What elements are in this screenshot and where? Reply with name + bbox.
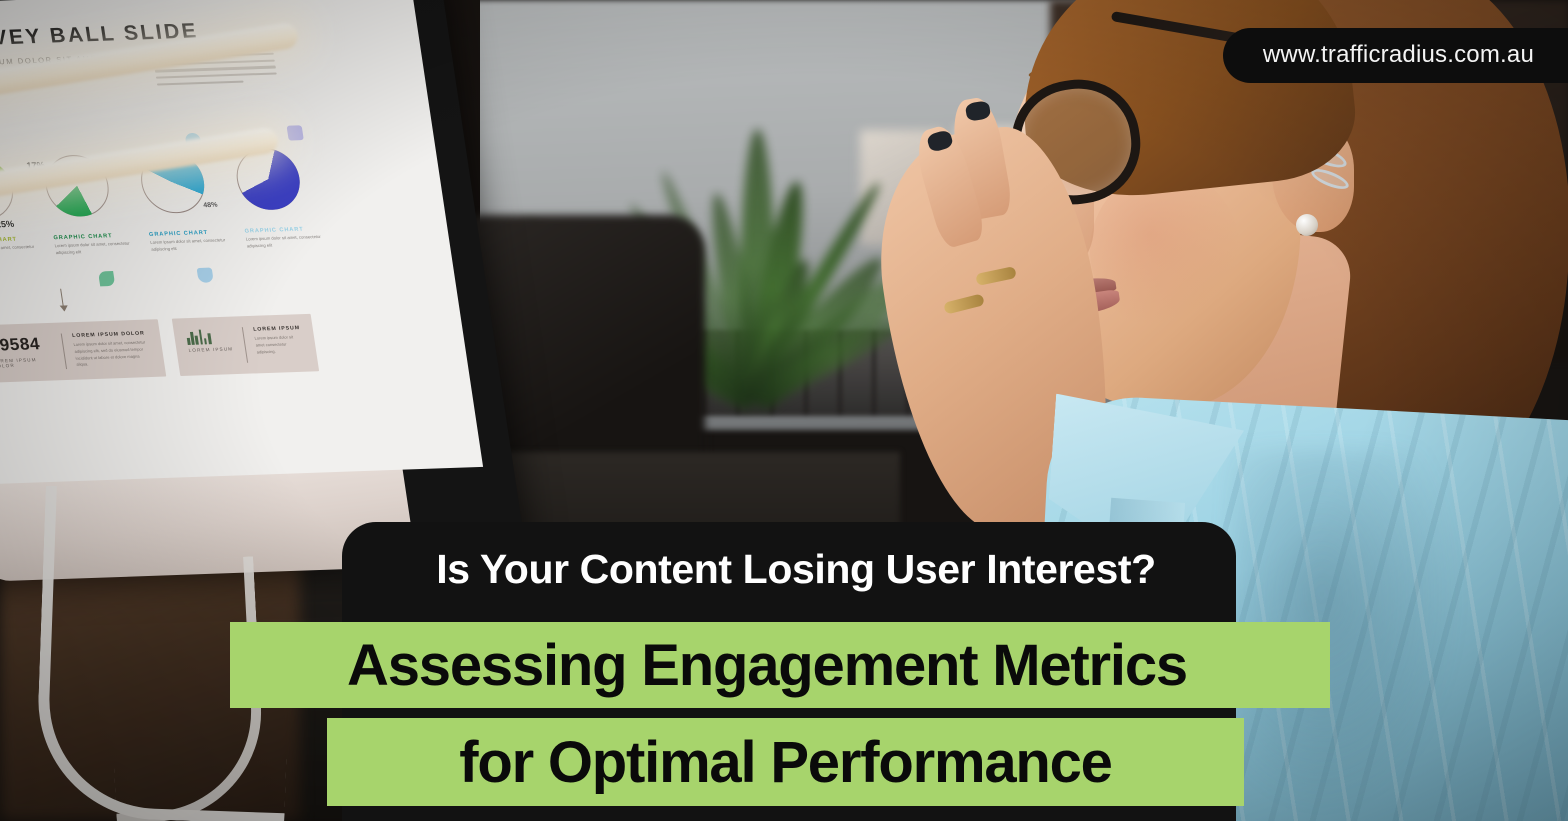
- stat-card-heading: LOREM IPSUM: [253, 325, 301, 333]
- tag-icon: [287, 125, 304, 140]
- headline-line-3: for Optimal Performance: [327, 718, 1244, 806]
- stat-card-body: Lorem ipsum dolor sit amet, consectetur …: [73, 339, 152, 369]
- card-divider: [61, 333, 67, 369]
- harvey-desc-1: Lorem ipsum dolor sit amet, consectetur …: [0, 244, 47, 260]
- pearl-earring: [1296, 214, 1318, 236]
- banner-canvas: HARVEY BALL SLIDE LOREM IPSUM DOLOR SIT …: [0, 0, 1568, 821]
- harvey-desc-2: Lorem ipsum dolor sit amet, consectetur …: [54, 240, 142, 256]
- stat-cards-row: 29584 LOREM IPSUM DOLOR LOREM IPSUM DOLO…: [0, 309, 454, 383]
- mini-bar-chart: [185, 328, 234, 345]
- stat-card-body: Lorem ipsum dolor sit amet consectetur a…: [254, 334, 304, 356]
- stat-card-number-label: LOREM IPSUM DOLOR: [0, 357, 56, 369]
- harvey-percent-1: 25%: [0, 219, 15, 230]
- headline-line-1: Is Your Content Losing User Interest?: [366, 546, 1226, 593]
- stat-card: 29584 LOREM IPSUM DOLOR LOREM IPSUM DOLO…: [0, 319, 166, 383]
- harvey-percent-3: 48%: [203, 202, 218, 209]
- flask-icon: [197, 268, 214, 283]
- down-arrow-icon: [60, 289, 65, 311]
- website-url-badge[interactable]: www.trafficradius.com.au: [1223, 28, 1568, 83]
- stat-card-heading: LOREM IPSUM DOLOR: [72, 330, 148, 339]
- stat-card: LOREM IPSUM LOREM IPSUM Lorem ipsum dolo…: [172, 314, 319, 376]
- harvey-desc-3: Lorem ipsum dolor sit amet, consectetur …: [150, 237, 238, 253]
- imac-monitor: HARVEY BALL SLIDE LOREM IPSUM DOLOR SIT …: [0, 0, 526, 571]
- leaf-icon: [98, 271, 115, 286]
- harvey-desc-4: Lorem ipsum dolor sit amet, consectetur …: [245, 234, 333, 250]
- stat-card-number: 29584: [0, 334, 54, 356]
- stat-card-number-label: LOREM IPSUM: [188, 346, 235, 353]
- headline-line-2: Assessing Engagement Metrics: [230, 622, 1330, 708]
- card-divider: [242, 327, 248, 363]
- harvey-ball-chart: 62% GRAPHIC CHART Lorem ipsum dolor sit …: [232, 147, 333, 250]
